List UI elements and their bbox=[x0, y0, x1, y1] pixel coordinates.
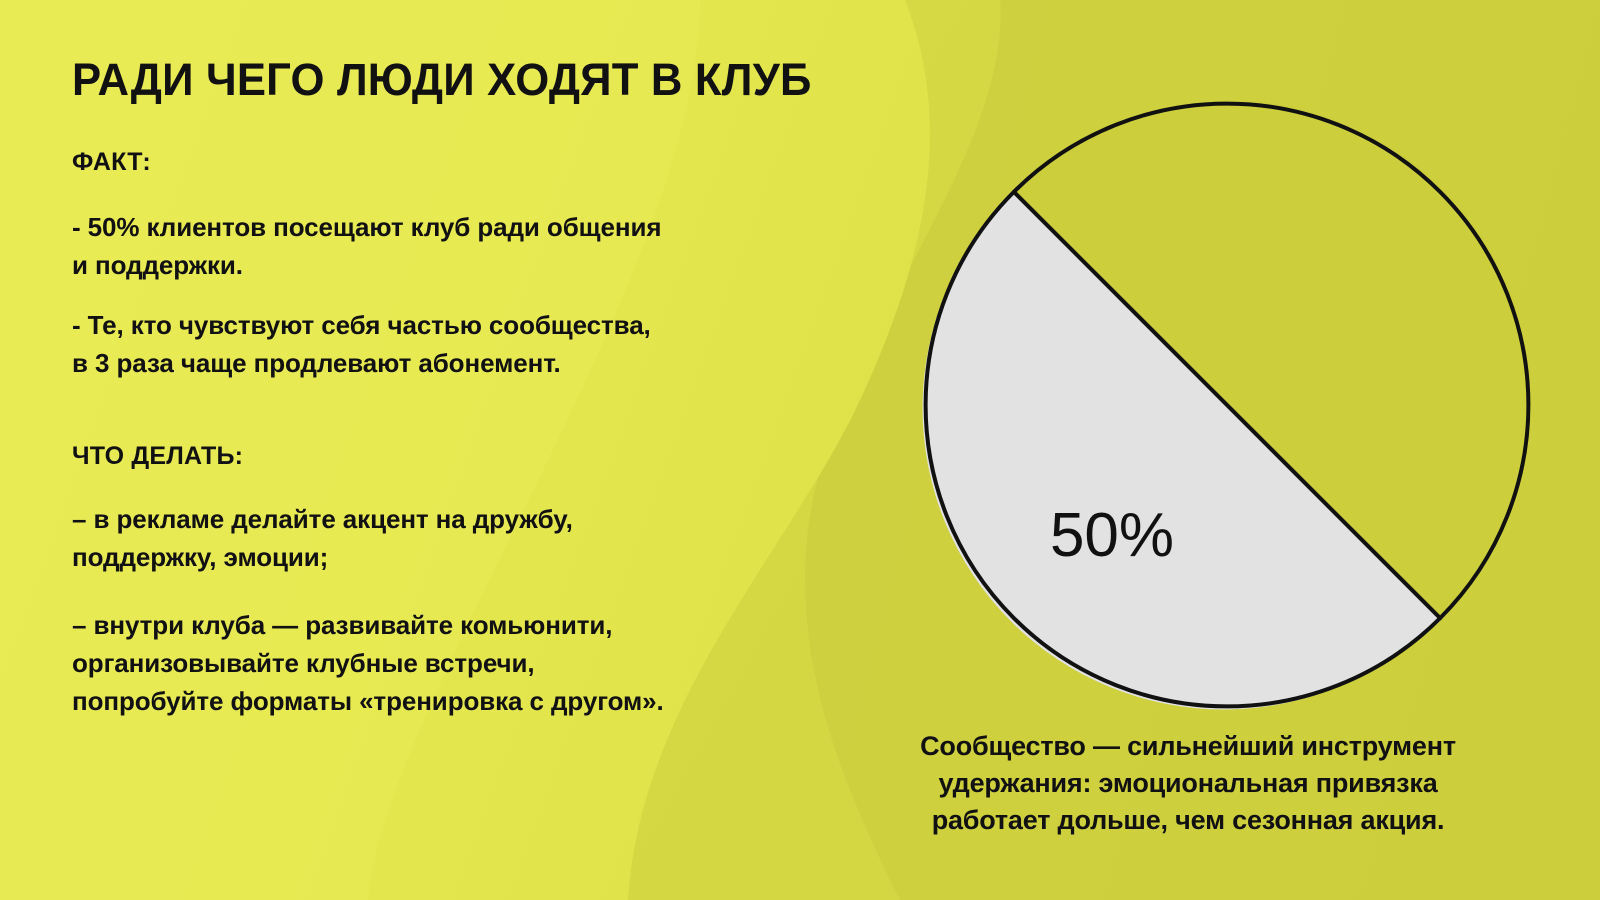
todo-item-1: – в рекламе делайте акцент на дружбу, по… bbox=[72, 500, 573, 576]
slide-root: РАДИ ЧЕГО ЛЮДИ ХОДЯТ В КЛУБ ФАКТ: - 50% … bbox=[0, 0, 1600, 900]
pie-chart-svg: 50% bbox=[900, 78, 1560, 738]
fact-section-heading: ФАКТ: bbox=[72, 148, 151, 177]
chart-caption: Сообщество — сильнейший инструмент удерж… bbox=[838, 728, 1538, 839]
text-column: РАДИ ЧЕГО ЛЮДИ ХОДЯТ В КЛУБ ФАКТ: - 50% … bbox=[72, 0, 862, 900]
pie-chart: 50% bbox=[900, 78, 1560, 738]
fact-item-2: - Те, кто чувствуют себя частью сообщест… bbox=[72, 306, 651, 382]
page-title: РАДИ ЧЕГО ЛЮДИ ХОДЯТ В КЛУБ bbox=[72, 54, 812, 106]
todo-section-heading: ЧТО ДЕЛАТЬ: bbox=[72, 442, 243, 471]
fact-item-1: - 50% клиентов посещают клуб ради общени… bbox=[72, 208, 661, 284]
pie-value-label: 50% bbox=[1050, 501, 1174, 570]
todo-item-2: – внутри клуба — развивайте комьюнити, о… bbox=[72, 606, 664, 720]
